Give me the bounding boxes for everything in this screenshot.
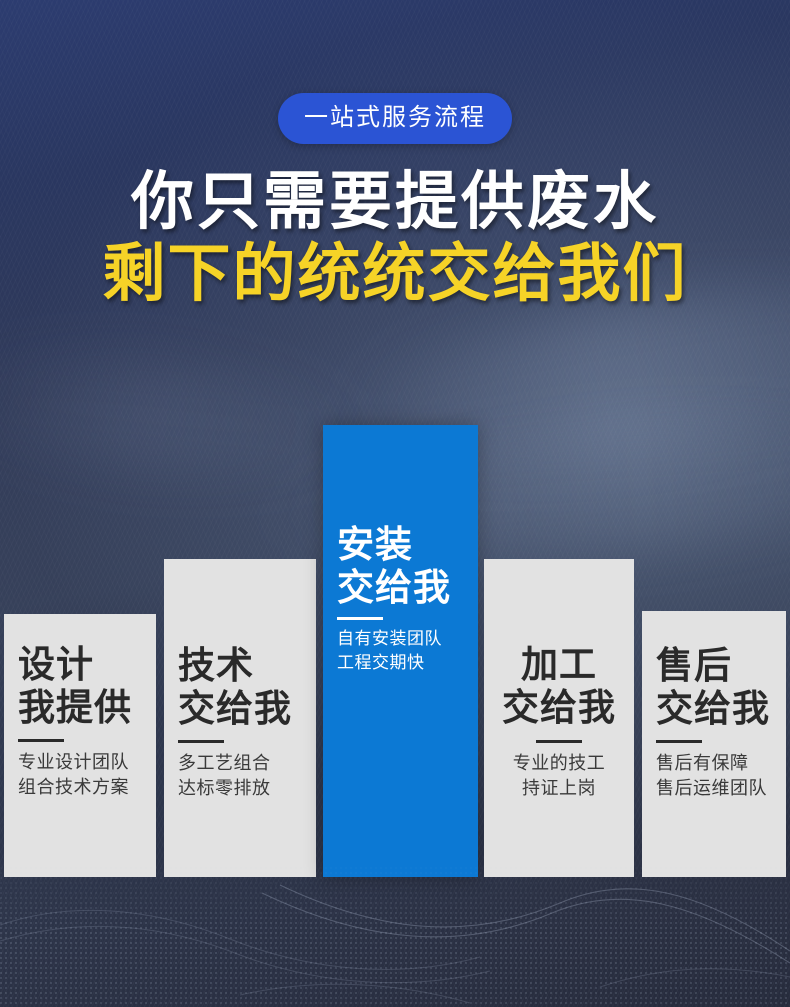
pillar-after-sales-sub-1: 售后有保障	[656, 751, 772, 777]
pillar-technology-title-1: 技术	[178, 645, 302, 688]
pillar-installation-sub-1: 自有安装团队	[337, 627, 464, 651]
pillar-design: 设计 我提供 专业设计团队 组合技术方案	[4, 614, 156, 877]
pillar-processing-divider	[536, 740, 582, 743]
pillar-technology-title-2: 交给我	[178, 688, 302, 731]
pillar-technology-divider	[178, 740, 224, 743]
wave-mesh-decoration	[0, 867, 790, 1007]
service-process-badge: 一站式服务流程	[278, 93, 512, 144]
pillar-processing-sub-1: 专业的技工	[498, 751, 620, 777]
badge-row: 一站式服务流程	[0, 93, 790, 144]
pillar-design-sub-2: 组合技术方案	[18, 775, 142, 801]
pillar-installation-divider	[337, 617, 383, 620]
pillar-technology: 技术 交给我 多工艺组合 达标零排放	[164, 559, 316, 877]
pillar-installation-title-2: 交给我	[337, 567, 464, 610]
pillar-installation: 安装 交给我 自有安装团队 工程交期快	[323, 425, 478, 877]
headline-block: 你只需要提供废水 剩下的统统交给我们	[0, 168, 790, 308]
pillar-after-sales-title-1: 售后	[656, 645, 772, 688]
pillar-design-divider	[18, 739, 64, 742]
pillar-after-sales: 售后 交给我 售后有保障 售后运维团队	[642, 611, 786, 877]
pillar-after-sales-title-2: 交给我	[656, 688, 772, 731]
pillar-processing: 加工 交给我 专业的技工 持证上岗	[484, 559, 634, 877]
wave-mesh-lines	[0, 867, 790, 1007]
pillar-design-title-1: 设计	[18, 644, 142, 687]
pillar-design-title-2: 我提供	[18, 687, 142, 730]
pillar-processing-title-1: 加工	[498, 645, 620, 688]
promo-banner: 一站式服务流程 你只需要提供废水 剩下的统统交给我们 设计 我提供 专业设计团队…	[0, 0, 790, 1007]
wave-mesh-dots	[0, 867, 790, 1007]
pillar-after-sales-sub-2: 售后运维团队	[656, 776, 772, 802]
pillar-technology-sub-2: 达标零排放	[178, 776, 302, 802]
headline-line-2: 剩下的统统交给我们	[0, 240, 790, 308]
pillar-processing-title-2: 交给我	[498, 688, 620, 731]
pillar-chart: 设计 我提供 专业设计团队 组合技术方案 技术 交给我 多工艺组合 达标零排放 …	[4, 425, 786, 877]
headline-line-1: 你只需要提供废水	[0, 168, 790, 236]
pillar-processing-sub-2: 持证上岗	[498, 776, 620, 802]
pillar-after-sales-divider	[656, 740, 702, 743]
pillar-installation-sub-2: 工程交期快	[337, 651, 464, 675]
pillar-installation-title-1: 安装	[337, 524, 464, 567]
pillar-design-sub-1: 专业设计团队	[18, 750, 142, 776]
pillar-technology-sub-1: 多工艺组合	[178, 751, 302, 777]
